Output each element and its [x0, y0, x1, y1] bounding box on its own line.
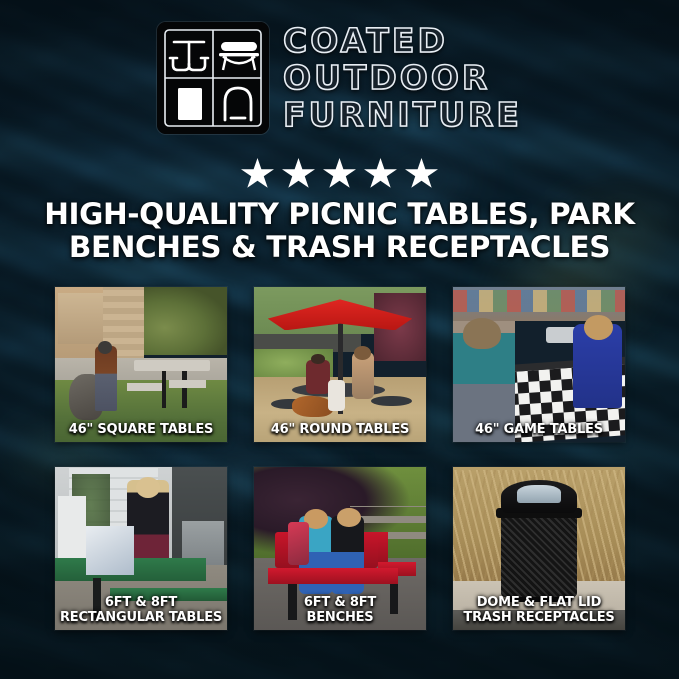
star-icon: [241, 158, 274, 190]
caption-line: BENCHES: [256, 611, 424, 626]
star-icon: [405, 158, 438, 190]
caption-line: 6FT & 8FT: [256, 596, 424, 611]
star-icon: [282, 158, 315, 190]
caption-line: 46" GAME TABLES: [455, 423, 623, 438]
product-grid: 46" SQUARE TABLES: [55, 287, 625, 630]
banner-content: COATED OUTDOOR FURNITURE HIGH-QUALITY PI…: [0, 0, 679, 679]
product-caption-square-tables: 46" SQUARE TABLES: [57, 423, 225, 438]
headline: HIGH-QUALITY PICNIC TABLES, PARK BENCHES…: [28, 198, 651, 264]
wordmark-line-1: COATED: [283, 23, 522, 59]
headline-line-2: BENCHES & TRASH RECEPTACLES: [28, 231, 651, 264]
product-tile-game-tables[interactable]: 46" GAME TABLES: [453, 287, 625, 442]
promo-banner: COATED OUTDOOR FURNITURE HIGH-QUALITY PI…: [0, 0, 679, 679]
product-photo-square-tables: [55, 287, 227, 442]
product-photo-game-tables: [453, 287, 625, 442]
caption-line: DOME & FLAT LID: [455, 596, 623, 611]
wordmark-line-3: FURNITURE: [283, 97, 522, 133]
wordmark-line-2: OUTDOOR: [283, 60, 522, 96]
product-tile-rectangular-tables[interactable]: 6FT & 8FT RECTANGULAR TABLES: [55, 467, 227, 630]
caption-line: 6FT & 8FT: [57, 596, 225, 611]
trash-receptacle-icon: [178, 88, 202, 120]
star-icon: [323, 158, 356, 190]
caption-line: TRASH RECEPTACLES: [455, 611, 623, 626]
caption-line: RECTANGULAR TABLES: [57, 611, 225, 626]
product-tile-square-tables[interactable]: 46" SQUARE TABLES: [55, 287, 227, 442]
product-tile-trash-receptacles[interactable]: DOME & FLAT LID TRASH RECEPTACLES: [453, 467, 625, 630]
brand-wordmark: COATED OUTDOOR FURNITURE: [283, 23, 522, 133]
product-caption-benches: 6FT & 8FT BENCHES: [256, 596, 424, 625]
headline-line-1: HIGH-QUALITY PICNIC TABLES, PARK: [28, 198, 651, 231]
product-photo-round-tables: [254, 287, 426, 442]
product-caption-trash-receptacles: DOME & FLAT LID TRASH RECEPTACLES: [455, 596, 623, 625]
product-caption-round-tables: 46" ROUND TABLES: [256, 423, 424, 438]
brand-logo: COATED OUTDOOR FURNITURE: [0, 22, 679, 134]
product-tile-round-tables[interactable]: 46" ROUND TABLES: [254, 287, 426, 442]
logo-icon-grid: [157, 22, 269, 134]
caption-line: 46" ROUND TABLES: [256, 423, 424, 438]
caption-line: 46" SQUARE TABLES: [57, 423, 225, 438]
product-caption-rectangular-tables: 6FT & 8FT RECTANGULAR TABLES: [57, 596, 225, 625]
receptacle-body: [501, 513, 577, 598]
star-icon: [364, 158, 397, 190]
star-rating: [0, 158, 679, 190]
product-tile-benches[interactable]: 6FT & 8FT BENCHES: [254, 467, 426, 630]
product-caption-game-tables: 46" GAME TABLES: [455, 423, 623, 438]
